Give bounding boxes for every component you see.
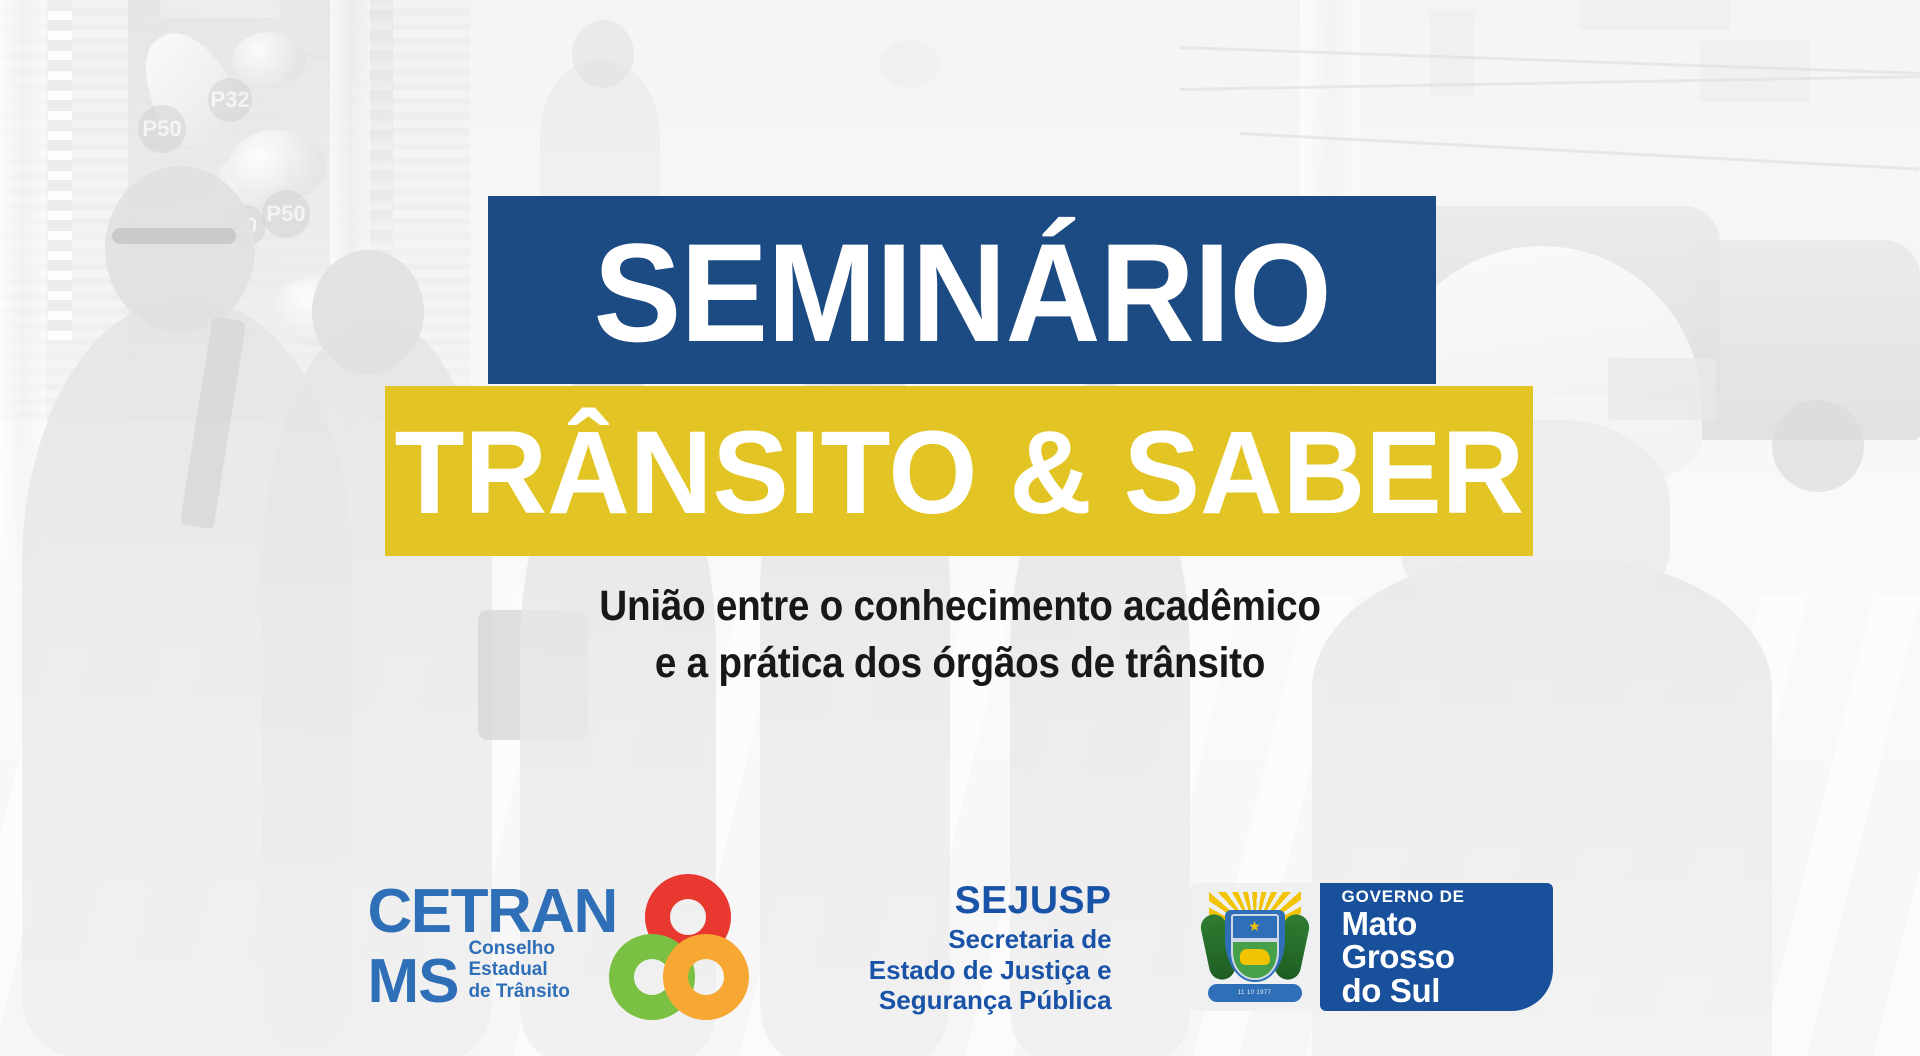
signage-banner (160, 0, 280, 18)
street-sign-3 (1700, 40, 1810, 102)
tagline-line-2: e a prática dos órgãos de trânsito (96, 635, 1824, 692)
headline-band-blue: SEMINÁRIO (488, 196, 1436, 384)
price-tag-2: P32 (208, 78, 252, 122)
governo-line-2: Grosso (1342, 940, 1553, 974)
street-sign-4 (1580, 0, 1730, 30)
brasao-star-icon: ★ (1248, 919, 1261, 933)
governo-wordmark: GOVERNO DE Mato Grosso do Sul (1320, 883, 1553, 1011)
logo-governo-ms: ★ 11 10 1977 GOVERNO DE Mato Grosso do S… (1190, 883, 1553, 1011)
price-tag-1: P50 (138, 105, 186, 153)
cetran-wordmark: CETRAN MS Conselho Estadual de Trânsito (367, 886, 616, 1008)
cetran-second-row: MS Conselho Estadual de Trânsito (367, 938, 616, 1008)
price-tag-3: P50 (262, 190, 310, 238)
brasao-jaguar-icon (1240, 949, 1270, 965)
governo-line-3: do Sul (1342, 974, 1553, 1008)
logo-sejusp: SEJUSP Secretaria de Estado de Justiça e… (869, 878, 1112, 1016)
logo-cetran-ms: CETRAN MS Conselho Estadual de Trânsito (367, 877, 750, 1017)
sejusp-line-2: Estado de Justiça e (869, 955, 1112, 986)
ring-orange-icon (663, 934, 749, 1020)
cetran-descriptor-line-1: Conselho (468, 938, 569, 959)
tagline: União entre o conhecimento acadêmico e a… (96, 578, 1824, 692)
governo-kicker: GOVERNO DE (1342, 887, 1553, 907)
cetran-state-abbr: MS (367, 956, 458, 1008)
food-photo-burger (232, 32, 306, 88)
street-sign-1 (880, 40, 940, 88)
page-title: SEMINÁRIO (593, 223, 1330, 363)
pedestrian-head-1 (105, 166, 255, 332)
poster-canvas: P50 P32 P50 50 (0, 0, 1920, 1056)
headline-band-yellow: TRÂNSITO & SABER (385, 386, 1533, 556)
coat-of-arms-icon: ★ 11 10 1977 (1203, 892, 1307, 1002)
cetran-rings-icon (601, 872, 751, 1022)
logo-strip: CETRAN MS Conselho Estadual de Trânsito … (0, 862, 1920, 1032)
cetran-descriptor-line-2: Estadual (468, 959, 569, 980)
governo-line-1: Mato (1342, 907, 1553, 941)
cetran-word: CETRAN (367, 886, 616, 938)
pedestrian-head-2 (312, 250, 424, 374)
sejusp-line-1: Secretaria de (869, 924, 1112, 955)
governo-brasao-panel: ★ 11 10 1977 (1190, 883, 1320, 1011)
cetran-descriptor-line-3: de Trânsito (468, 981, 569, 1002)
brasao-ribbon: 11 10 1977 (1208, 984, 1302, 1002)
pedestrian-head-6 (572, 20, 634, 88)
brasao-ribbon-text: 11 10 1977 (1208, 984, 1302, 1002)
cap-flag-patch (1608, 358, 1716, 420)
page-subtitle: TRÂNSITO & SABER (394, 414, 1524, 532)
sejusp-line-3: Segurança Pública (869, 985, 1112, 1016)
sunglasses (112, 228, 236, 244)
vehicle-wheel (1772, 400, 1864, 492)
tagline-line-1: União entre o conhecimento acadêmico (96, 578, 1824, 635)
shutter-left (48, 0, 72, 340)
cetran-descriptor: Conselho Estadual de Trânsito (468, 938, 569, 1008)
sejusp-acronym: SEJUSP (869, 878, 1112, 924)
